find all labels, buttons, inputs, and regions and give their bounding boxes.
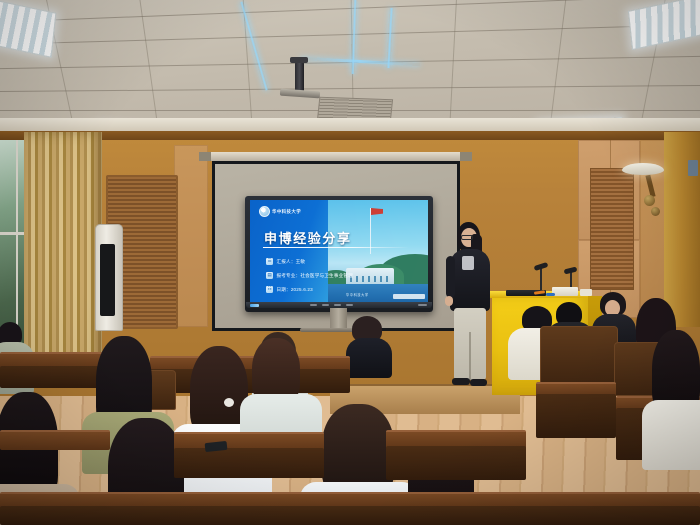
ceiling-light-strip (239, 1, 268, 91)
title-underline (263, 247, 409, 248)
presenter-hand (445, 296, 453, 306)
ceiling-light-panel (628, 0, 700, 50)
projector-mount (295, 62, 304, 92)
wall-sconce-light (622, 163, 664, 175)
screen-housing-cap (199, 152, 211, 161)
ceiling-light-strip (386, 8, 393, 68)
seminar-room-photo: 华中科技大学 华中科技大学 申博经验分享 ☰ 汇报人：王敏 ▤ 报考专业：社会医… (0, 0, 700, 525)
desk-row (386, 446, 526, 480)
university-emblem-icon (259, 206, 270, 217)
display-stand (330, 308, 347, 330)
screen-housing-cap (460, 152, 472, 161)
sconce-ornament (651, 207, 660, 216)
desk-row (174, 448, 324, 478)
display-button[interactable] (322, 304, 329, 307)
display-button[interactable] (418, 304, 427, 307)
date-text: 日期：2025.6.23 (277, 287, 313, 293)
projector-bracket (280, 89, 320, 99)
presenter-text: 汇报人：王敏 (277, 259, 306, 265)
wall-top-trim (0, 118, 700, 132)
papers-stack (552, 287, 578, 296)
wall-crown-moulding (0, 131, 700, 140)
university-name: 华中科技大学 (272, 209, 301, 215)
slide-info-presenter: ☰ 汇报人：王敏 (266, 258, 305, 265)
wall-panel (174, 145, 208, 327)
major-icon: ▤ (266, 272, 273, 279)
slide-info-major: ▤ 报考专业：社会医学与卫生事业管理 (266, 272, 353, 279)
presenter-lanyard (462, 256, 474, 270)
window-curtain (24, 132, 102, 372)
sconce-ornament (644, 195, 655, 206)
power-led-indicator (250, 304, 259, 307)
wall-control-plate[interactable] (688, 160, 698, 176)
photo-credit-bar (393, 294, 425, 299)
display-button[interactable] (346, 304, 353, 307)
hair-tie (224, 398, 234, 407)
presenter-icon: ☰ (266, 258, 273, 265)
major-text: 报考专业：社会医学与卫生事业管理 (277, 273, 353, 279)
torso (642, 400, 700, 470)
ceiling-light-strip (300, 57, 420, 66)
desk-row (150, 369, 350, 393)
display-button[interactable] (310, 304, 317, 307)
slide-info-date: ☷ 日期：2025.6.23 (266, 286, 313, 293)
campus-plaza (328, 284, 428, 302)
desk-row (0, 506, 700, 525)
desk-row (0, 430, 110, 450)
presentation-slide[interactable]: 华中科技大学 华中科技大学 申博经验分享 ☰ 汇报人：王敏 ▤ 报考专业：社会医… (250, 200, 428, 302)
presenter-arm (446, 256, 455, 298)
desk-row (536, 394, 616, 438)
projector-ceiling-plate (290, 57, 308, 63)
presenter-pants-split (469, 332, 471, 380)
plaza-caption: 华中科技大学 (346, 292, 369, 297)
desk-items (580, 289, 592, 296)
slide-title: 申博经验分享 (264, 228, 352, 247)
presenter-glasses (461, 235, 473, 240)
date-icon: ☷ (266, 286, 273, 293)
torso (346, 338, 392, 378)
flag-icon (371, 208, 383, 215)
wood-slat-panel (590, 168, 634, 290)
chair-back[interactable] (540, 326, 618, 386)
presenter-shoe (470, 379, 487, 386)
air-conditioner-grille (100, 244, 115, 316)
presenter-shoe (452, 378, 470, 385)
university-logo: 华中科技大学 (259, 206, 301, 217)
marker-pen[interactable] (546, 293, 555, 296)
projection-screen-housing (203, 152, 468, 161)
slide-photo: 华中科技大学 (328, 200, 428, 302)
display-button[interactable] (334, 304, 341, 307)
